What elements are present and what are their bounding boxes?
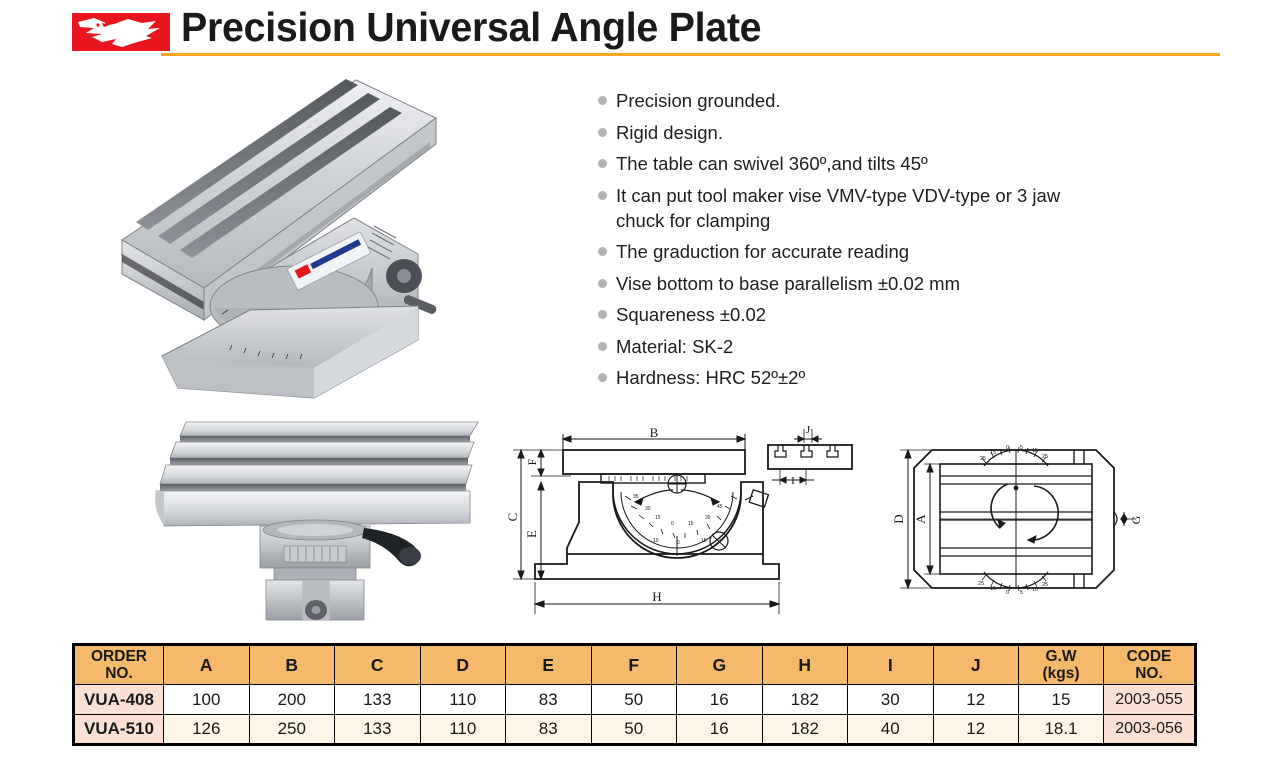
- feature-text: Squareness ±0.02: [616, 302, 766, 327]
- cell-g: 16: [677, 715, 763, 745]
- svg-text:5: 5: [1020, 445, 1023, 451]
- bullet-dot-icon: [598, 159, 607, 168]
- cell-i: 40: [848, 715, 934, 745]
- svg-text:15: 15: [990, 586, 996, 592]
- feature-text: Vise bottom to base parallelism ±0.02 mm: [616, 271, 960, 296]
- table-header-row: ORDERNO. A B C D E F G H I J G.W(kgs) CO…: [74, 645, 1196, 685]
- svg-text:15: 15: [1032, 448, 1038, 454]
- svg-text:45: 45: [717, 504, 723, 510]
- column-header-g: G: [677, 645, 763, 685]
- column-header-f: F: [591, 645, 677, 685]
- cell-i: 30: [848, 685, 934, 715]
- svg-text:5: 5: [1020, 590, 1023, 596]
- svg-text:25: 25: [1042, 582, 1048, 588]
- svg-text:30: 30: [705, 515, 711, 521]
- svg-text:10: 10: [1032, 587, 1038, 593]
- svg-text:0: 0: [1006, 445, 1009, 451]
- eagle-head-logo-icon: [72, 13, 170, 51]
- cell-order-no: VUA-408: [74, 685, 164, 715]
- page-header: Precision Universal Angle Plate: [0, 0, 1269, 62]
- svg-text:C: C: [505, 513, 520, 522]
- cell-e: 83: [506, 685, 592, 715]
- list-item: Hardness: HRC 52º±2º: [598, 365, 1068, 390]
- column-header-order-no: ORDERNO.: [74, 645, 164, 685]
- cell-a: 100: [164, 685, 250, 715]
- bullet-dot-icon: [598, 342, 607, 351]
- column-header-e: E: [506, 645, 592, 685]
- column-header-h: H: [762, 645, 848, 685]
- feature-text: The graduction for accurate reading: [616, 239, 909, 264]
- bullet-dot-icon: [598, 279, 607, 288]
- svg-text:H: H: [652, 589, 661, 604]
- svg-text:0: 0: [1006, 590, 1009, 596]
- cell-h: 182: [762, 715, 848, 745]
- list-item: Material: SK-2: [598, 334, 1068, 359]
- svg-text:A: A: [913, 514, 928, 524]
- cell-b: 250: [249, 715, 335, 745]
- feature-text: It can put tool maker vise VMV-type VDV-…: [616, 183, 1068, 233]
- svg-text:B: B: [650, 425, 659, 440]
- cell-e: 83: [506, 715, 592, 745]
- cell-d: 110: [420, 685, 506, 715]
- svg-text:D: D: [891, 514, 906, 523]
- t-slot-detail-drawing: J I: [762, 423, 857, 495]
- column-header-d: D: [420, 645, 506, 685]
- front-elevation-drawing: B: [505, 424, 805, 619]
- svg-text:15: 15: [655, 515, 661, 521]
- list-item: The table can swivel 360º,and tilts 45º: [598, 151, 1068, 176]
- feature-text: Rigid design.: [616, 120, 723, 145]
- list-item: It can put tool maker vise VMV-type VDV-…: [598, 183, 1068, 233]
- specification-table-wrapper: ORDERNO. A B C D E F G H I J G.W(kgs) CO…: [72, 643, 1197, 746]
- cell-f: 50: [591, 715, 677, 745]
- table-row: VUA-510 126 250 133 110 83 50 16 182 40 …: [74, 715, 1196, 745]
- cell-g: 16: [677, 685, 763, 715]
- svg-text:0: 0: [671, 521, 674, 527]
- feature-text: Material: SK-2: [616, 334, 733, 359]
- bullet-dot-icon: [598, 310, 607, 319]
- svg-text:30: 30: [645, 506, 651, 512]
- feature-text: Precision grounded.: [616, 88, 781, 113]
- svg-text:I: I: [791, 475, 795, 487]
- cell-d: 110: [420, 715, 506, 745]
- cell-h: 182: [762, 685, 848, 715]
- feature-list: Precision grounded. Rigid design. The ta…: [598, 88, 1068, 397]
- svg-text:35: 35: [633, 494, 639, 500]
- bullet-dot-icon: [598, 191, 607, 200]
- bullet-dot-icon: [598, 128, 607, 137]
- list-item: Rigid design.: [598, 120, 1068, 145]
- list-item: Vise bottom to base parallelism ±0.02 mm: [598, 271, 1068, 296]
- svg-text:E: E: [524, 530, 539, 538]
- list-item: The graduction for accurate reading: [598, 239, 1068, 264]
- column-header-a: A: [164, 645, 250, 685]
- svg-text:25: 25: [978, 581, 984, 587]
- feature-text: The table can swivel 360º,and tilts 45º: [616, 151, 928, 176]
- bullet-dot-icon: [598, 247, 607, 256]
- svg-text:15: 15: [701, 538, 707, 544]
- cell-order-no: VUA-510: [74, 715, 164, 745]
- svg-text:F: F: [525, 458, 539, 465]
- svg-text:25: 25: [1042, 454, 1048, 460]
- column-header-code-no: CODENO.: [1104, 645, 1196, 685]
- column-header-c: C: [335, 645, 421, 685]
- svg-text:G: G: [1129, 515, 1143, 524]
- cell-c: 133: [335, 685, 421, 715]
- cell-gross-weight: 18.1: [1019, 715, 1104, 745]
- cell-gross-weight: 15: [1019, 685, 1104, 715]
- svg-text:J: J: [806, 424, 811, 436]
- svg-text:15: 15: [688, 521, 694, 527]
- title-underline-rule: [161, 53, 1220, 56]
- cell-f: 50: [591, 685, 677, 715]
- angle-plate-hero-photo: [118, 58, 458, 403]
- cell-a: 126: [164, 715, 250, 745]
- bullet-dot-icon: [598, 373, 607, 382]
- cell-j: 12: [933, 685, 1019, 715]
- feature-text: Hardness: HRC 52º±2º: [616, 365, 805, 390]
- cell-b: 200: [249, 685, 335, 715]
- cell-j: 12: [933, 715, 1019, 745]
- page-title: Precision Universal Angle Plate: [181, 4, 761, 51]
- list-item: Precision grounded.: [598, 88, 1068, 113]
- top-plan-drawing: 25 15 0 5 15 25 25 15 0 5 10 25: [888, 432, 1208, 607]
- cell-code-no: 2003-056: [1104, 715, 1196, 745]
- table-row: VUA-408 100 200 133 110 83 50 16 182 30 …: [74, 685, 1196, 715]
- column-header-gross-weight: G.W(kgs): [1019, 645, 1104, 685]
- cell-code-no: 2003-055: [1104, 685, 1196, 715]
- angle-plate-front-photo: [152, 418, 512, 623]
- list-item: Squareness ±0.02: [598, 302, 1068, 327]
- cell-c: 133: [335, 715, 421, 745]
- svg-text:10: 10: [653, 538, 659, 544]
- svg-text:25: 25: [980, 456, 986, 462]
- column-header-i: I: [848, 645, 934, 685]
- column-header-b: B: [249, 645, 335, 685]
- column-header-j: J: [933, 645, 1019, 685]
- specification-table: ORDERNO. A B C D E F G H I J G.W(kgs) CO…: [72, 643, 1197, 746]
- svg-text:15: 15: [990, 450, 996, 456]
- bullet-dot-icon: [598, 96, 607, 105]
